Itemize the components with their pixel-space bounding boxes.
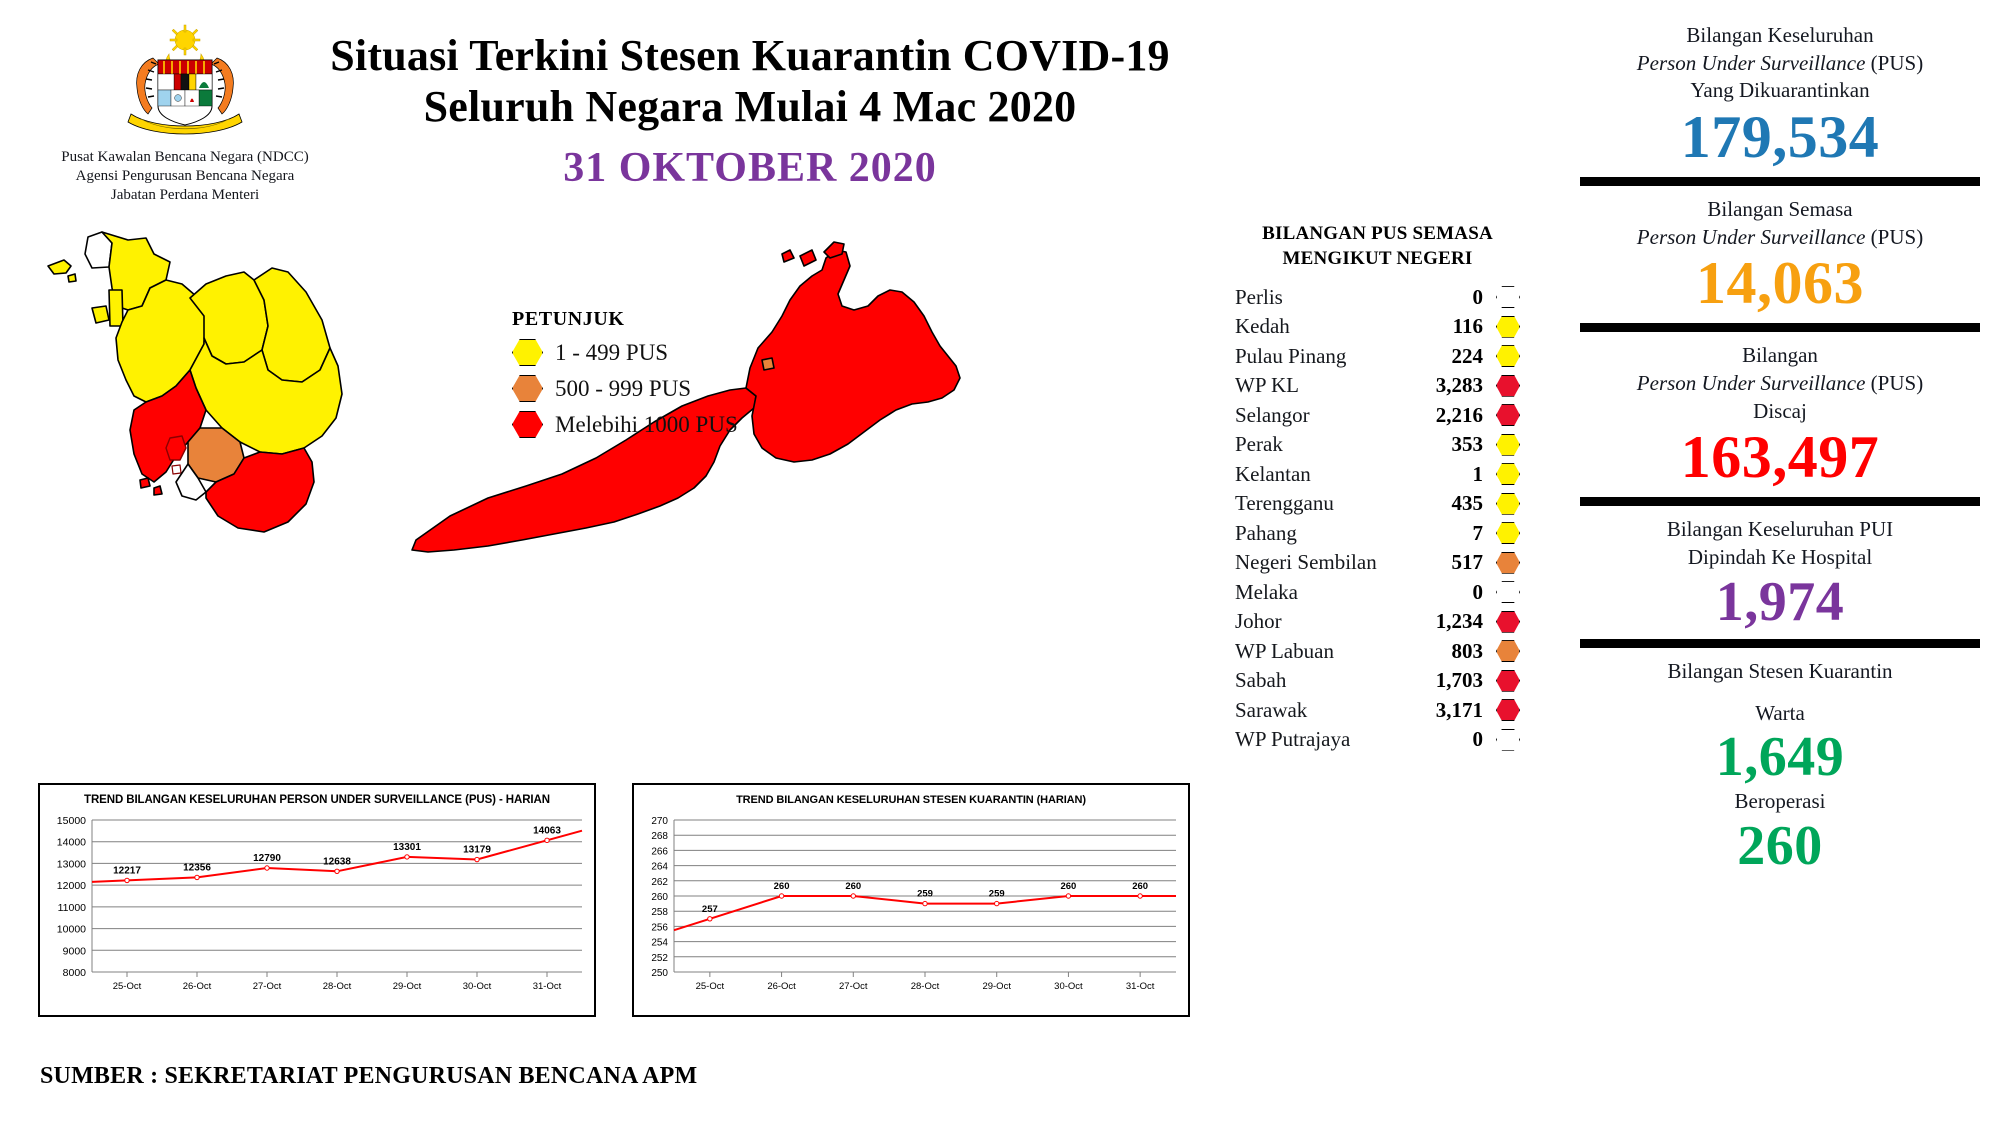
state-value: 0 [1405, 727, 1483, 752]
state-severity-hex-icon [1496, 729, 1520, 751]
state-severity-hex-icon [1496, 552, 1520, 574]
svg-text:260: 260 [845, 881, 861, 892]
table-row: Terengganu435 [1235, 489, 1520, 519]
stat-label-paren: (PUS) [1865, 371, 1923, 395]
stat-label: Bilangan Keseluruhan Person Under Survei… [1580, 22, 1980, 105]
legend-item: 1 - 499 PUS [512, 339, 762, 366]
stat-label-paren: (PUS) [1865, 225, 1923, 249]
state-severity-hex-icon [1496, 463, 1520, 485]
state-name: Sarawak [1235, 698, 1405, 723]
svg-text:30-Oct: 30-Oct [463, 981, 492, 992]
state-value: 1,703 [1405, 668, 1483, 693]
legend-item: Melebihi 1000 PUS [512, 411, 762, 438]
stat-label-line3: Discaj [1580, 398, 1980, 426]
svg-text:12217: 12217 [113, 865, 141, 876]
state-severity-hex-icon [1496, 699, 1520, 721]
state-value: 224 [1405, 344, 1483, 369]
stat-current-pus: Bilangan Semasa Person Under Surveillanc… [1580, 196, 1980, 316]
svg-text:259: 259 [917, 889, 933, 900]
state-name: Kedah [1235, 314, 1405, 339]
svg-text:12790: 12790 [253, 853, 281, 864]
svg-text:25-Oct: 25-Oct [113, 981, 142, 992]
stat-value: 14,063 [1580, 251, 1980, 316]
svg-text:252: 252 [651, 953, 668, 964]
stesen-beroperasi-value: 260 [1580, 816, 1980, 876]
svg-text:25-Oct: 25-Oct [696, 981, 725, 992]
table-row: Pulau Pinang224 [1235, 341, 1520, 371]
table-row: Melaka0 [1235, 577, 1520, 607]
state-name: Terengganu [1235, 491, 1405, 516]
state-name: WP Putrajaya [1235, 727, 1405, 752]
svg-text:12638: 12638 [323, 856, 351, 867]
table-row: Negeri Sembilan517 [1235, 548, 1520, 578]
state-name: WP KL [1235, 373, 1405, 398]
stat-total-pus-quarantined: Bilangan Keseluruhan Person Under Survei… [1580, 22, 1980, 170]
stat-value: 163,497 [1580, 425, 1980, 490]
stat-label-line1: Bilangan Keseluruhan [1580, 22, 1980, 50]
svg-text:258: 258 [651, 907, 668, 918]
chart-plot-area: 25025225425625826026226426626827025-Oct2… [634, 806, 1188, 1002]
legend-label: 1 - 499 PUS [555, 340, 668, 366]
state-severity-hex-icon [1496, 640, 1520, 662]
stat-label-line3: Dipindah Ke Hospital [1580, 544, 1980, 572]
svg-text:13179: 13179 [463, 845, 491, 856]
svg-text:30-Oct: 30-Oct [1054, 981, 1083, 992]
state-value: 0 [1405, 285, 1483, 310]
agency-identity-block: Pusat Kawalan Bencana Negara (NDCC) Agen… [52, 18, 318, 205]
malaysia-coat-of-arms-icon [52, 18, 318, 148]
svg-text:250: 250 [651, 968, 668, 979]
legend-label: Melebihi 1000 PUS [555, 412, 738, 438]
stat-label-italic: Person Under Surveillance [1637, 371, 1866, 395]
stesen-beroperasi-label: Beroperasi [1580, 788, 1980, 816]
stat-label-line3: Yang Dikuarantinkan [1580, 77, 1980, 105]
svg-text:28-Oct: 28-Oct [911, 981, 940, 992]
svg-text:270: 270 [651, 816, 668, 827]
source-footer: SUMBER : SEKRETARIAT PENGURUSAN BENCANA … [40, 1063, 697, 1090]
svg-text:15000: 15000 [57, 815, 86, 827]
table-row: WP Putrajaya0 [1235, 725, 1520, 755]
stat-label-paren: (PUS) [1865, 51, 1923, 75]
table-row: Kedah116 [1235, 312, 1520, 342]
svg-text:13000: 13000 [57, 858, 86, 870]
svg-text:27-Oct: 27-Oct [839, 981, 868, 992]
state-value: 803 [1405, 639, 1483, 664]
svg-text:262: 262 [651, 877, 668, 888]
stat-label-italic: Person Under Surveillance [1637, 225, 1866, 249]
state-value: 116 [1405, 314, 1483, 339]
svg-text:26-Oct: 26-Oct [183, 981, 212, 992]
chart-stations-daily-trend: TREND BILANGAN KESELURUHAN STESEN KUARAN… [632, 783, 1190, 1017]
state-severity-hex-icon [1496, 286, 1520, 308]
svg-text:12356: 12356 [183, 862, 211, 873]
svg-text:31-Oct: 31-Oct [1126, 981, 1155, 992]
legend-title: PETUNJUK [512, 308, 762, 331]
stat-value: 1,974 [1580, 572, 1980, 632]
svg-text:266: 266 [651, 846, 668, 857]
state-name: Sabah [1235, 668, 1405, 693]
state-severity-hex-icon [1496, 316, 1520, 338]
state-severity-hex-icon [1496, 670, 1520, 692]
state-name: Perak [1235, 432, 1405, 457]
state-name: Negeri Sembilan [1235, 550, 1405, 575]
table-row: Perlis0 [1235, 282, 1520, 312]
state-severity-hex-icon [1496, 581, 1520, 603]
state-pus-table: BILANGAN PUS SEMASA MENGIKUT NEGERI Perl… [1235, 222, 1520, 754]
state-severity-hex-icon [1496, 375, 1520, 397]
table-row: Sarawak3,171 [1235, 695, 1520, 725]
state-value: 1 [1405, 462, 1483, 487]
svg-text:12000: 12000 [57, 880, 86, 892]
state-value: 1,234 [1405, 609, 1483, 634]
svg-text:31-Oct: 31-Oct [533, 981, 562, 992]
state-value: 3,171 [1405, 698, 1483, 723]
state-value: 517 [1405, 550, 1483, 575]
summary-statistics-panel: Bilangan Keseluruhan Person Under Survei… [1580, 22, 1980, 876]
state-value: 2,216 [1405, 403, 1483, 428]
svg-text:29-Oct: 29-Oct [982, 981, 1011, 992]
state-name: Perlis [1235, 285, 1405, 310]
table-row: Johor1,234 [1235, 607, 1520, 637]
chart-plot-area: 8000900010000110001200013000140001500025… [40, 806, 594, 1002]
stat-label-italic: Person Under Surveillance [1637, 51, 1866, 75]
title-line-2: Seluruh Negara Mulai 4 Mac 2020 [300, 81, 1200, 132]
table-row: WP KL3,283 [1235, 371, 1520, 401]
state-name: Pulau Pinang [1235, 344, 1405, 369]
stat-pui-moved-to-hospital: Bilangan Keseluruhan PUI Dipindah Ke Hos… [1580, 516, 1980, 632]
svg-text:10000: 10000 [57, 924, 86, 936]
svg-text:259: 259 [989, 889, 1005, 900]
svg-text:268: 268 [651, 831, 668, 842]
divider [1580, 323, 1980, 332]
report-date: 31 OKTOBER 2020 [300, 144, 1200, 192]
svg-text:11000: 11000 [58, 902, 87, 914]
svg-text:27-Oct: 27-Oct [253, 981, 282, 992]
chart-title: TREND BILANGAN KESELURUHAN STESEN KUARAN… [634, 785, 1188, 806]
stat-label-line1: Bilangan Keseluruhan PUI [1580, 516, 1980, 544]
svg-text:29-Oct: 29-Oct [393, 981, 422, 992]
legend-swatch-red-icon [512, 411, 543, 438]
state-name: Johor [1235, 609, 1405, 634]
title-line-1: Situasi Terkini Stesen Kuarantin COVID-1… [300, 30, 1200, 81]
state-table-heading-line1: BILANGAN PUS SEMASA [1235, 222, 1520, 247]
table-row: Selangor2,216 [1235, 400, 1520, 430]
state-value: 0 [1405, 580, 1483, 605]
stat-label-line1: Bilangan [1580, 342, 1980, 370]
svg-text:257: 257 [702, 904, 718, 915]
agency-line-3: Jabatan Perdana Menteri [52, 186, 318, 205]
infographic-page: Pusat Kawalan Bencana Negara (NDCC) Agen… [0, 0, 2000, 1125]
state-value: 435 [1405, 491, 1483, 516]
state-severity-hex-icon [1496, 434, 1520, 456]
svg-text:254: 254 [651, 938, 668, 949]
svg-text:264: 264 [651, 862, 668, 873]
state-severity-hex-icon [1496, 345, 1520, 367]
svg-text:260: 260 [1132, 881, 1148, 892]
svg-text:13301: 13301 [393, 842, 421, 853]
state-name: WP Labuan [1235, 639, 1405, 664]
svg-text:9000: 9000 [63, 945, 87, 957]
svg-text:260: 260 [774, 881, 790, 892]
state-value: 7 [1405, 521, 1483, 546]
chart-title: TREND BILANGAN KESELURUHAN PERSON UNDER … [40, 785, 594, 806]
svg-text:256: 256 [651, 922, 668, 933]
stat-label: Bilangan Person Under Surveillance (PUS)… [1580, 342, 1980, 425]
state-value: 353 [1405, 432, 1483, 457]
map-legend: PETUNJUK 1 - 499 PUS 500 - 999 PUS Meleb… [512, 308, 762, 447]
stat-value: 179,534 [1580, 105, 1980, 170]
legend-swatch-yellow-icon [512, 339, 543, 366]
legend-label: 500 - 999 PUS [555, 376, 691, 402]
state-table-heading: BILANGAN PUS SEMASA MENGIKUT NEGERI [1235, 222, 1520, 271]
svg-text:26-Oct: 26-Oct [767, 981, 796, 992]
svg-text:14063: 14063 [533, 825, 561, 836]
table-row: WP Labuan803 [1235, 636, 1520, 666]
state-name: Kelantan [1235, 462, 1405, 487]
divider [1580, 177, 1980, 186]
legend-swatch-orange-icon [512, 375, 543, 402]
state-name: Melaka [1235, 580, 1405, 605]
stat-label-line1: Bilangan Semasa [1580, 196, 1980, 224]
svg-text:28-Oct: 28-Oct [323, 981, 352, 992]
stesen-warta-label: Warta [1580, 700, 1980, 728]
state-severity-hex-icon [1496, 522, 1520, 544]
svg-text:8000: 8000 [63, 967, 87, 979]
agency-line-1: Pusat Kawalan Bencana Negara (NDCC) [52, 148, 318, 167]
state-severity-hex-icon [1496, 611, 1520, 633]
divider [1580, 497, 1980, 506]
table-row: Pahang7 [1235, 518, 1520, 548]
chart-pus-daily-trend: TREND BILANGAN KESELURUHAN PERSON UNDER … [38, 783, 596, 1017]
state-table-heading-line2: MENGIKUT NEGERI [1235, 247, 1520, 272]
table-row: Perak353 [1235, 430, 1520, 460]
stesen-warta-value: 1,649 [1580, 727, 1980, 787]
stesen-heading: Bilangan Stesen Kuarantin [1580, 658, 1980, 686]
state-severity-hex-icon [1496, 493, 1520, 515]
state-name: Pahang [1235, 521, 1405, 546]
legend-item: 500 - 999 PUS [512, 375, 762, 402]
table-row: Sabah1,703 [1235, 666, 1520, 696]
page-title: Situasi Terkini Stesen Kuarantin COVID-1… [300, 30, 1200, 192]
state-value: 3,283 [1405, 373, 1483, 398]
agency-line-2: Agensi Pengurusan Bencana Negara [52, 167, 318, 186]
state-name: Selangor [1235, 403, 1405, 428]
divider [1580, 639, 1980, 648]
table-row: Kelantan1 [1235, 459, 1520, 489]
stat-label: Bilangan Semasa Person Under Surveillanc… [1580, 196, 1980, 251]
stat-label: Bilangan Keseluruhan PUI Dipindah Ke Hos… [1580, 516, 1980, 571]
svg-text:260: 260 [651, 892, 668, 903]
svg-text:260: 260 [1060, 881, 1076, 892]
state-severity-hex-icon [1496, 404, 1520, 426]
stat-quarantine-stations: Bilangan Stesen Kuarantin Warta 1,649 Be… [1580, 658, 1980, 876]
svg-text:14000: 14000 [57, 837, 86, 849]
stat-pus-discharged: Bilangan Person Under Surveillance (PUS)… [1580, 342, 1980, 490]
